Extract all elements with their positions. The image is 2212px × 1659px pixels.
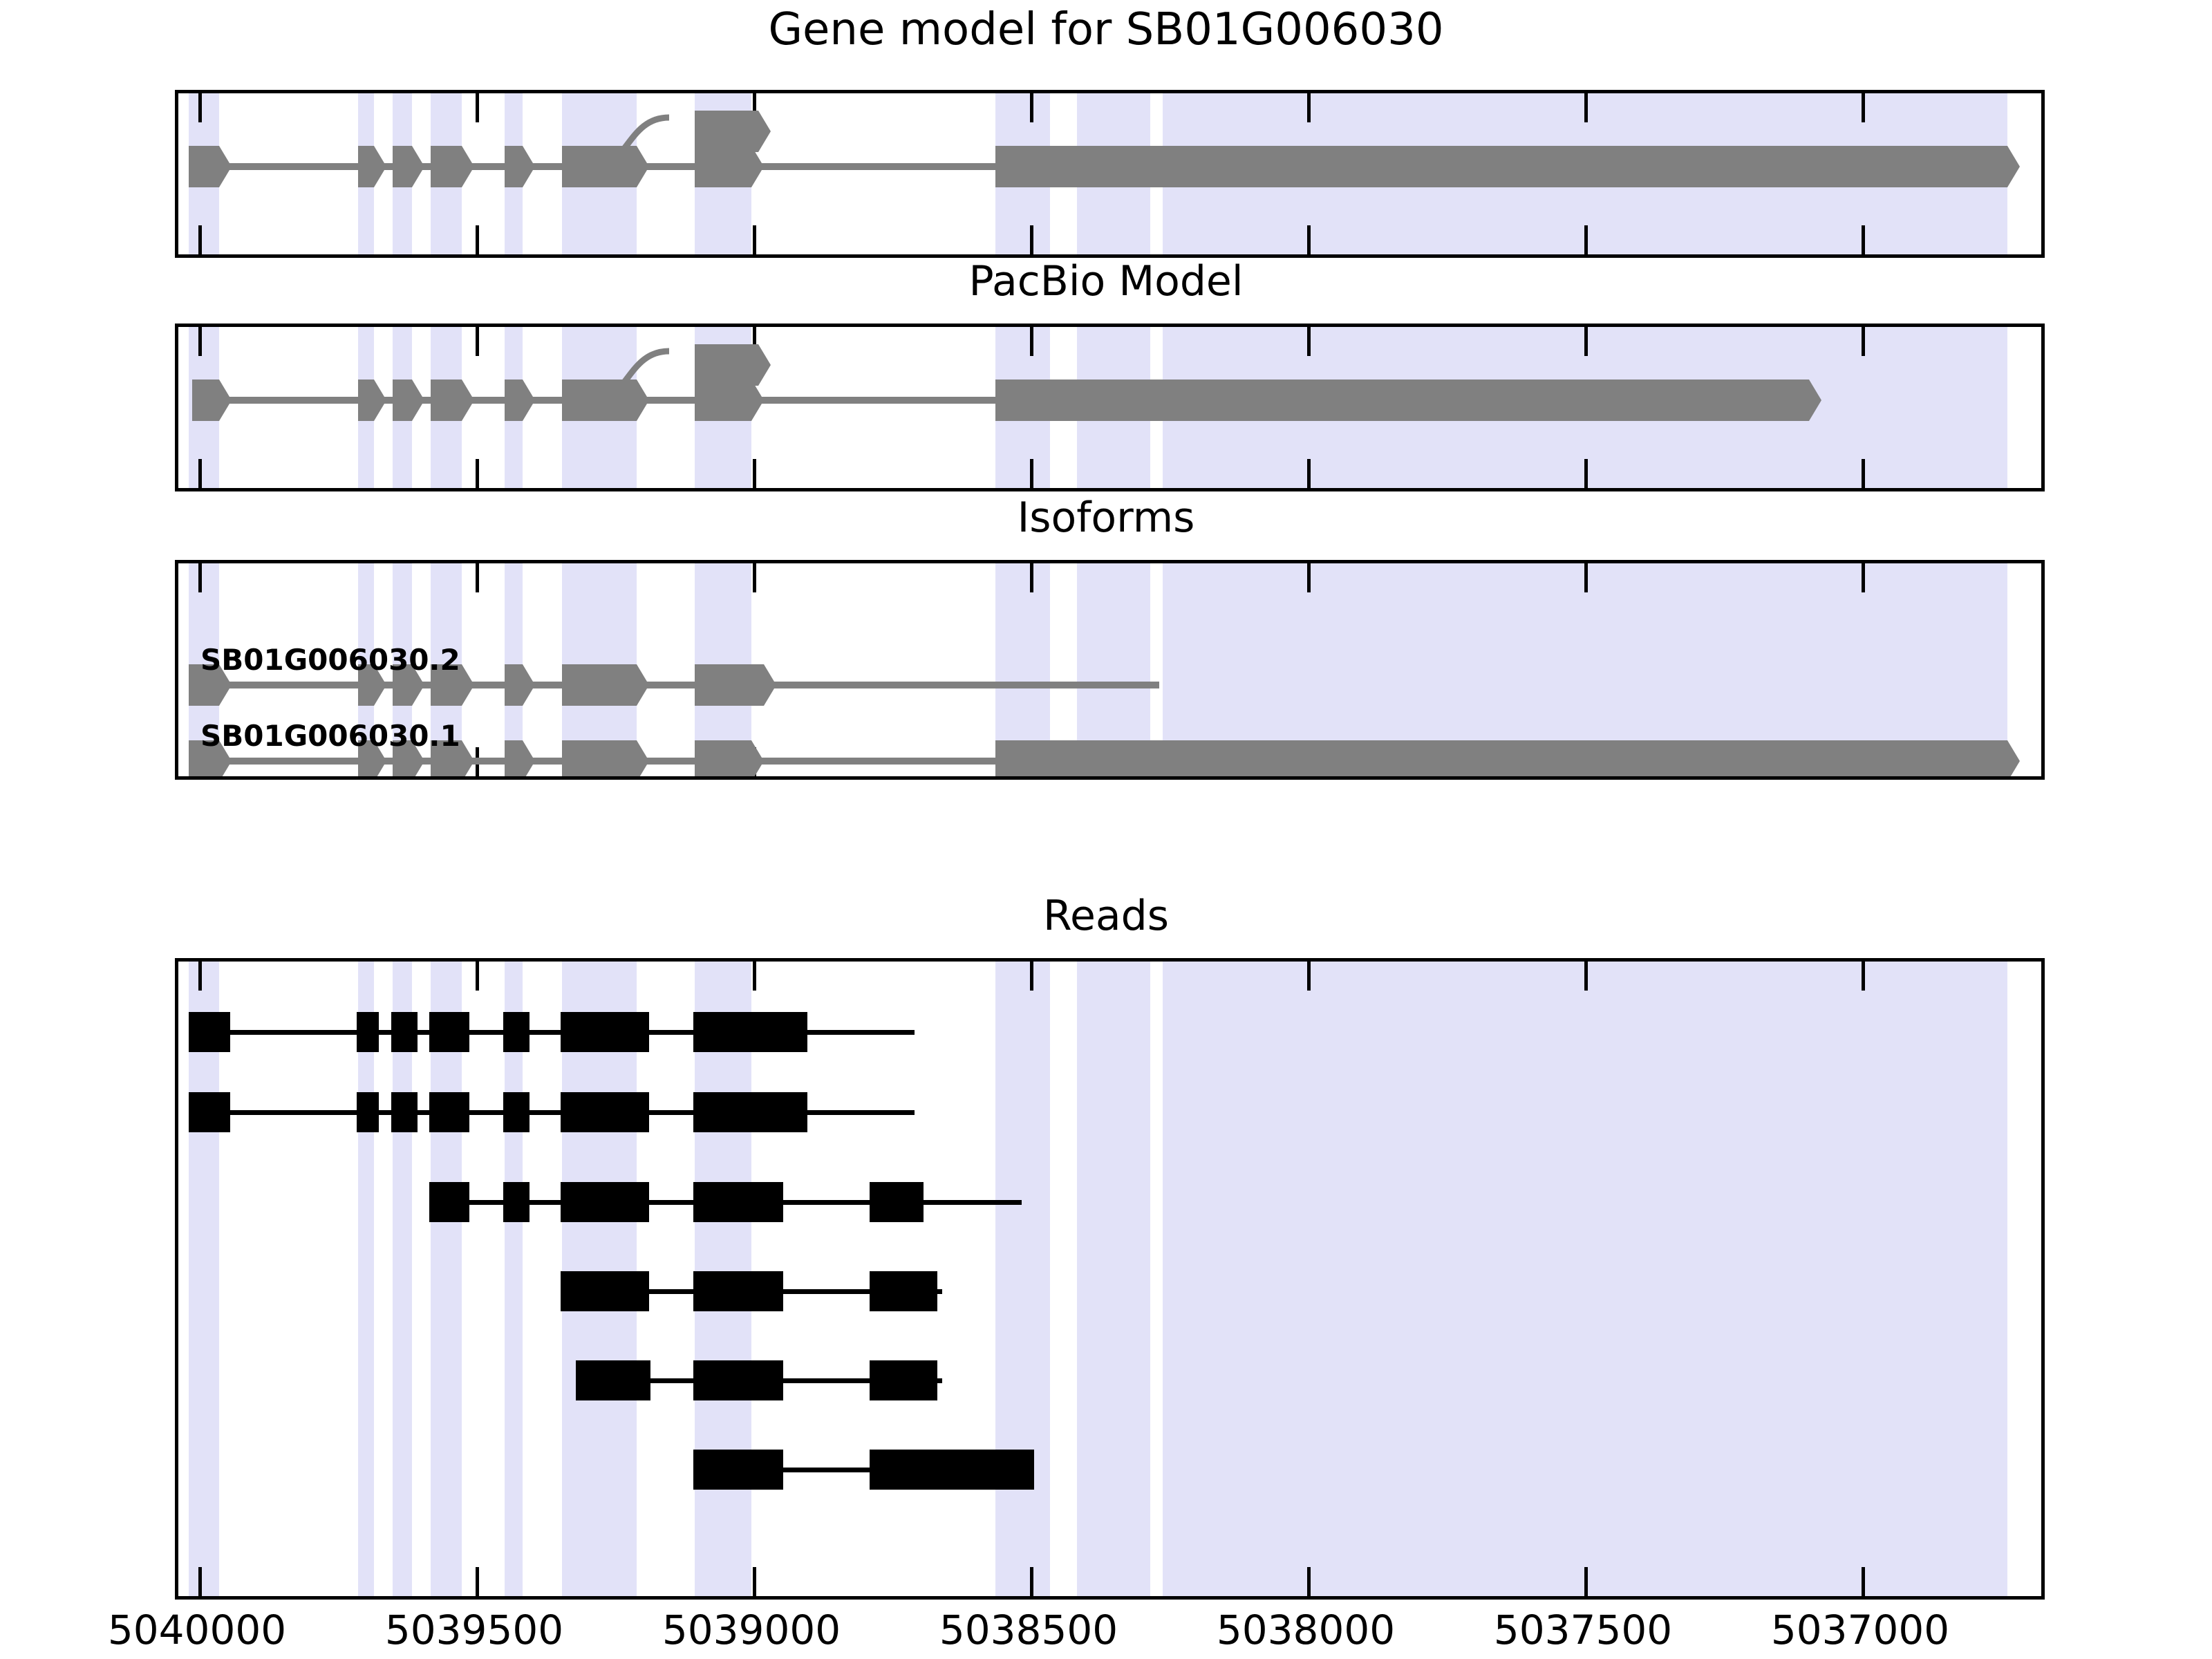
axis-tick (1862, 93, 1865, 122)
axis-tick (753, 459, 756, 488)
read-exon (357, 1012, 379, 1052)
axis-tick (476, 93, 479, 122)
exon (431, 146, 474, 187)
axis-tick (1307, 962, 1311, 991)
exon (695, 379, 764, 421)
axis-tick (1862, 327, 1865, 356)
exon (358, 379, 386, 421)
axis-tick (198, 962, 202, 991)
exon (192, 379, 232, 421)
exon (695, 740, 764, 780)
read-exon (503, 1092, 529, 1132)
read-exon (693, 1182, 783, 1222)
axis-tick (1030, 93, 1033, 122)
intron-line (189, 682, 1159, 688)
exon-shade-band (1077, 962, 1150, 1596)
exon (393, 379, 424, 421)
exon-shade-band (431, 962, 462, 1596)
exon-shade-band (505, 962, 523, 1596)
axis-tick (1584, 962, 1588, 991)
xtick-label: 5038500 (890, 1606, 1167, 1653)
axis-tick (1307, 563, 1311, 592)
read-exon (429, 1182, 469, 1222)
exon (562, 664, 649, 706)
axis-tick (1584, 1567, 1588, 1596)
isoform-label-2: SB01G006030.2 (200, 643, 460, 677)
axis-tick (1584, 563, 1588, 592)
axis-tick (1307, 459, 1311, 488)
axis-tick (198, 327, 202, 356)
exon (695, 146, 764, 187)
axis-tick (1584, 327, 1588, 356)
page-title: Gene model for SB01G006030 (0, 4, 2212, 55)
read-exon (693, 1012, 807, 1052)
read-exon (503, 1182, 529, 1222)
pacbio-model-axes (175, 324, 2045, 491)
exon (189, 146, 232, 187)
exon (562, 379, 649, 421)
axis-tick (1307, 93, 1311, 122)
axis-tick (1030, 1567, 1033, 1596)
xtick-label: 5040000 (59, 1606, 335, 1653)
reads-axes (175, 958, 2045, 1600)
panel-title-reads: Reads (0, 892, 2212, 940)
isoforms-axes: SB01G006030.2 SB01G006030.1 (175, 560, 2045, 780)
read-exon (693, 1092, 807, 1132)
read-exon (693, 1450, 783, 1490)
xtick-label: 5038000 (1168, 1606, 1444, 1653)
exon-shade-band (995, 962, 1050, 1596)
read-exon (870, 1360, 937, 1400)
read-exon (870, 1450, 1034, 1490)
axis-tick (1307, 225, 1311, 254)
xtick-label: 5037500 (1445, 1606, 1721, 1653)
axis-tick (476, 962, 479, 991)
read-exon (391, 1092, 418, 1132)
read-exon (561, 1271, 649, 1311)
axis-tick (198, 225, 202, 254)
axis-tick (1862, 962, 1865, 991)
axis-tick (1862, 459, 1865, 488)
exon (505, 379, 535, 421)
exon (505, 740, 535, 780)
axis-tick (1307, 327, 1311, 356)
read-exon (576, 1360, 650, 1400)
read-exon (561, 1092, 649, 1132)
axis-tick (1030, 327, 1033, 356)
read-exon (189, 1012, 230, 1052)
axis-tick (476, 459, 479, 488)
read-exon (503, 1012, 529, 1052)
xtick-label: 5037000 (1722, 1606, 1998, 1653)
read-exon (693, 1271, 783, 1311)
panel-title-isoforms: Isoforms (0, 494, 2212, 542)
axis-tick (198, 459, 202, 488)
read-exon (870, 1271, 937, 1311)
axis-tick (476, 1567, 479, 1596)
axis-tick (1862, 225, 1865, 254)
read-exon (561, 1182, 649, 1222)
read-exon (693, 1360, 783, 1400)
read-exon (189, 1092, 230, 1132)
read-exon (429, 1012, 469, 1052)
panel-title-pacbio: PacBio Model (0, 257, 2212, 306)
exon-terminal (695, 664, 776, 706)
axis-tick (198, 563, 202, 592)
axis-tick (1307, 1567, 1311, 1596)
read-exon (391, 1012, 418, 1052)
exon (562, 146, 649, 187)
axis-tick (1862, 1567, 1865, 1596)
read-exon (561, 1012, 649, 1052)
axis-tick (753, 225, 756, 254)
exon-terminal (995, 146, 2020, 187)
xtick-label: 5039500 (336, 1606, 612, 1653)
xtick-label: 5039000 (613, 1606, 890, 1653)
axis-tick (753, 962, 756, 991)
axis-tick (1030, 563, 1033, 592)
axis-tick (1584, 225, 1588, 254)
axis-tick (476, 327, 479, 356)
exon (505, 664, 535, 706)
axis-tick (1030, 225, 1033, 254)
read-exon (357, 1092, 379, 1132)
axis-tick (1584, 93, 1588, 122)
axis-tick (753, 563, 756, 592)
exon-terminal (995, 740, 2020, 780)
axis-tick (198, 93, 202, 122)
exon (562, 740, 649, 780)
exon (505, 146, 535, 187)
axis-tick (1030, 962, 1033, 991)
axis-tick (198, 1567, 202, 1596)
exon-shade-band (1163, 962, 2007, 1596)
axis-tick (1584, 459, 1588, 488)
exon-shade-band (393, 962, 412, 1596)
gene-model-axes (175, 90, 2045, 258)
axis-tick (1030, 459, 1033, 488)
read-exon (870, 1182, 924, 1222)
read-exon (429, 1092, 469, 1132)
axis-tick (753, 1567, 756, 1596)
exon-terminal (995, 379, 1821, 421)
exon-shade-band (358, 962, 374, 1596)
axis-tick (476, 225, 479, 254)
exon-shade-band (189, 962, 219, 1596)
isoform-label-1: SB01G006030.1 (200, 719, 460, 753)
exon (431, 379, 474, 421)
axis-tick (476, 563, 479, 592)
exon (358, 146, 386, 187)
exon (393, 146, 424, 187)
axis-tick (1862, 563, 1865, 592)
